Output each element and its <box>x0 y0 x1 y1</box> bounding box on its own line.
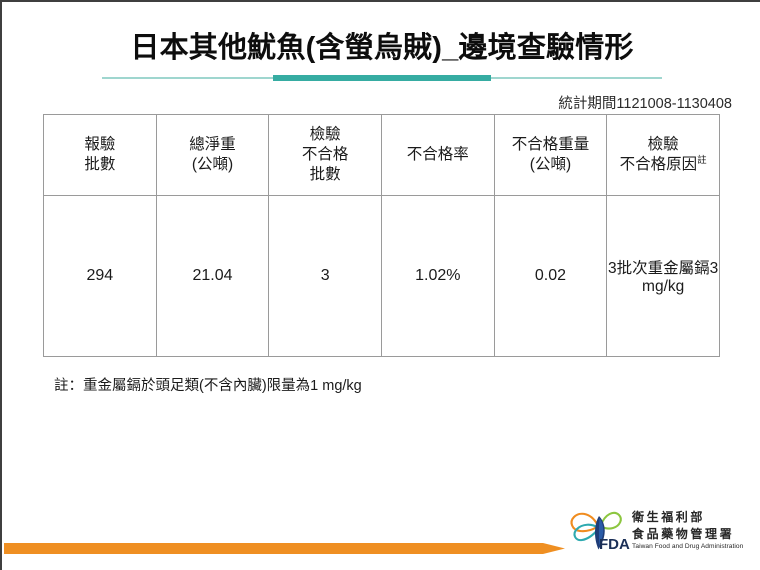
logo-line-ministry: 衛生福利部 <box>632 509 748 526</box>
cell-inspected-batches: 294 <box>44 196 157 357</box>
footnote-text: 註：重金屬鎘於頭足類(不含內臟)限量為1 mg/kg <box>54 374 362 395</box>
cell-failed-batches: 3 <box>269 196 382 357</box>
header-line: (公噸) <box>495 155 607 175</box>
fda-butterfly-icon: FDA <box>568 507 630 553</box>
header-line: 批數 <box>44 155 156 175</box>
divider-accent-bar <box>273 75 491 81</box>
header-line-text: 不合格原因 <box>620 156 698 173</box>
header-line: 總淨重 <box>157 135 269 155</box>
logo-line-english: Taiwan Food and Drug Administration <box>632 542 748 551</box>
header-failed-batches: 檢驗 不合格 批數 <box>269 115 382 196</box>
table-row: 294 21.04 3 1.02% 0.02 3批次重金屬鎘3 mg/kg <box>44 196 720 357</box>
header-failed-weight: 不合格重量 (公噸) <box>494 115 607 196</box>
footnote-marker: 註 <box>697 155 707 166</box>
header-line: 不合格 <box>269 145 381 165</box>
header-failure-reason: 檢驗 不合格原因註 <box>607 115 720 196</box>
header-line: 報驗 <box>44 135 156 155</box>
header-line: (公噸) <box>157 155 269 175</box>
page-title: 日本其他魷魚(含螢烏賊)_邊境查驗情形 <box>2 24 760 66</box>
header-inspected-batches: 報驗 批數 <box>44 115 157 196</box>
cell-failure-rate: 1.02% <box>381 196 494 357</box>
header-line: 檢驗 <box>269 125 381 145</box>
table-body: 294 21.04 3 1.02% 0.02 3批次重金屬鎘3 mg/kg <box>44 196 720 357</box>
header-line: 不合格原因註 <box>607 155 719 175</box>
statistics-period: 統計期間1121008-1130408 <box>558 92 732 113</box>
border-inspection-table: 報驗 批數 總淨重 (公噸) 檢驗 不合格 批數 不合格率 不合格重量 (公 <box>43 114 720 357</box>
svg-text:FDA: FDA <box>599 536 630 553</box>
header-line: 不合格率 <box>382 145 494 165</box>
fda-logo-text: 衛生福利部 食品藥物管理署 Taiwan Food and Drug Admin… <box>632 509 748 551</box>
header-line: 檢驗 <box>607 135 719 155</box>
cell-failure-reason: 3批次重金屬鎘3 mg/kg <box>607 196 720 357</box>
header-line: 不合格重量 <box>495 135 607 155</box>
bottom-accent-bar <box>4 543 565 554</box>
table-header-row: 報驗 批數 總淨重 (公噸) 檢驗 不合格 批數 不合格率 不合格重量 (公 <box>44 115 720 196</box>
cell-total-net-weight: 21.04 <box>156 196 269 357</box>
title-divider <box>102 74 662 82</box>
header-failure-rate: 不合格率 <box>381 115 494 196</box>
slide-canvas: 日本其他魷魚(含螢烏賊)_邊境查驗情形 統計期間1121008-1130408 … <box>0 0 760 570</box>
cell-failed-weight: 0.02 <box>494 196 607 357</box>
header-total-net-weight: 總淨重 (公噸) <box>156 115 269 196</box>
table-header: 報驗 批數 總淨重 (公噸) 檢驗 不合格 批數 不合格率 不合格重量 (公 <box>44 115 720 196</box>
header-line: 批數 <box>269 165 381 185</box>
fda-logo: FDA 衛生福利部 食品藥物管理署 Taiwan Food and Drug A… <box>568 507 748 555</box>
logo-line-agency: 食品藥物管理署 <box>632 526 748 543</box>
